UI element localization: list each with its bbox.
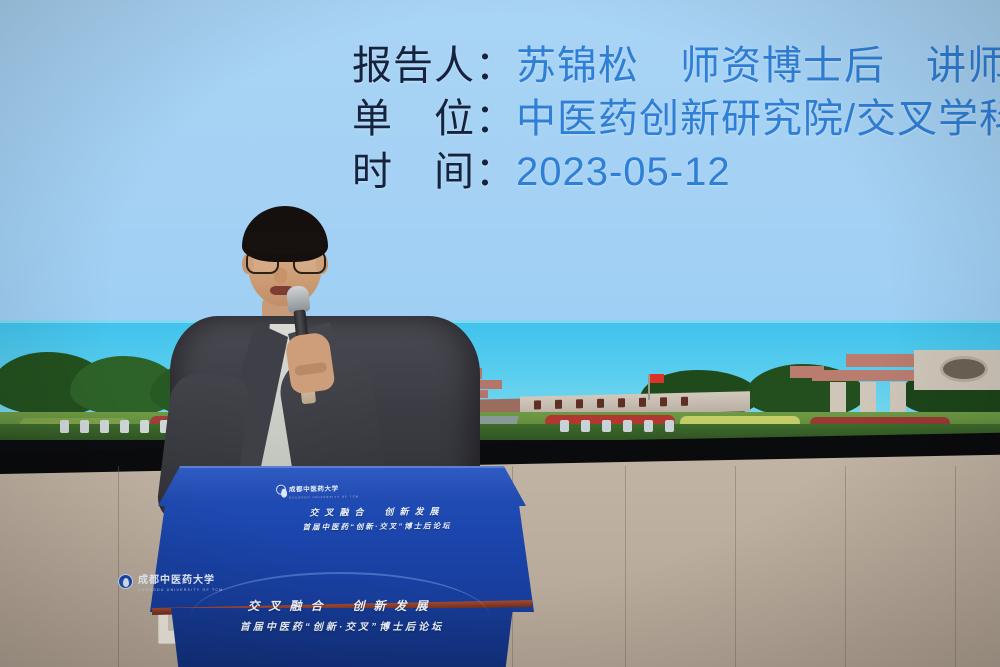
conference-photo-scene: 报告人：苏锦松 师资博士后 讲师 单 位：中医药创新研究院/交叉学科研 时 间：…: [0, 0, 1000, 667]
wall-seam: [625, 466, 626, 667]
slide-label-date: 时 间：: [352, 150, 516, 194]
hair: [242, 206, 328, 262]
university-name-en: CHENGDU UNIVERSITY OF TCM: [138, 588, 223, 592]
slide-line-affiliation: 单 位：中医药创新研究院/交叉学科研: [352, 93, 1000, 146]
podium-front-slogan: 交叉融合 创新发展 首届中医药“创新·交叉”博士后论坛: [150, 597, 534, 633]
campus-panorama-photo: [0, 320, 1000, 446]
university-emblem-icon: [118, 574, 133, 589]
podium-top-university-logo: 成都中医药大学 CHENGDU UNIVERSITY OF TCM: [276, 477, 359, 499]
photo-national-flag: [650, 374, 664, 383]
slide-label-affiliation: 单 位：: [352, 97, 516, 141]
university-emblem-icon: [276, 484, 286, 494]
projection-screen: 报告人：苏锦松 师资博士后 讲师 单 位：中医药创新研究院/交叉学科研 时 间：…: [0, 0, 1000, 452]
podium-slogan-line2: 首届中医药“创新·交叉”博士后论坛: [150, 618, 534, 633]
wall-seam: [118, 466, 119, 667]
university-name-cn: 成都中医药大学: [138, 575, 215, 586]
podium-top-slogan-line1: 交叉融合 创新发展: [252, 504, 502, 520]
podium-slogan-line1: 交叉融合 创新发展: [150, 597, 534, 614]
slide-value-speaker: 苏锦松 师资博士后 讲师: [516, 44, 1000, 88]
photo-wall-characters: [534, 397, 688, 410]
slide-label-speaker: 报告人：: [352, 44, 516, 88]
slide-text-block: 报告人：苏锦松 师资博士后 讲师 单 位：中医药创新研究院/交叉学科研 时 间：…: [352, 40, 1000, 198]
slide-line-speaker: 报告人：苏锦松 师资博士后 讲师: [352, 40, 1000, 93]
slide-value-date: 2023-05-12: [516, 150, 731, 194]
wall-seam: [735, 466, 736, 667]
photo-potted-plants: [560, 420, 674, 432]
hand-right-holding-microphone: [284, 331, 336, 395]
slide-value-affiliation: 中医药创新研究院/交叉学科研: [516, 97, 1000, 141]
podium-university-logo: 成都中医药大学 CHENGDU UNIVERSITY OF TCM: [118, 570, 223, 592]
university-name-cn: 成都中医药大学: [289, 486, 339, 494]
wall-seam: [955, 466, 956, 667]
wall-seam: [845, 466, 846, 667]
podium-top-slogan: 交叉融合 创新发展 首届中医药“创新·交叉”博士后论坛: [252, 504, 502, 534]
slide-line-date: 时 间：2023-05-12: [352, 146, 1000, 199]
microphone-grille: [286, 285, 311, 313]
